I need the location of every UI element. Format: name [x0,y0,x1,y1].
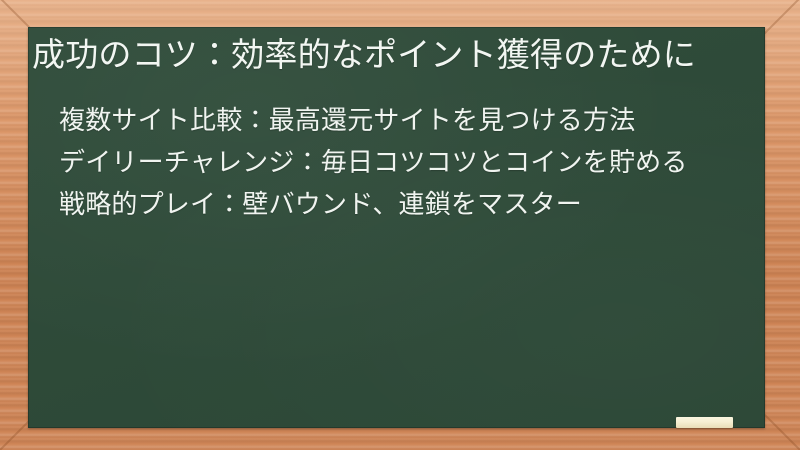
board-content: 成功のコツ：効率的なポイント獲得のために 複数サイト比較：最高還元サイトを見つけ… [28,27,765,225]
chalkboard-slide: 成功のコツ：効率的なポイント獲得のために 複数サイト比較：最高還元サイトを見つけ… [0,0,800,450]
list-item: 複数サイト比較：最高還元サイトを見つける方法 [59,99,731,141]
list-item: 戦略的プレイ：壁バウンド、連鎖をマスター [59,183,731,225]
list-item: デイリーチャレンジ：毎日コツコツとコインを貯める [59,141,731,183]
frame-miter-bottom-right [764,414,800,450]
chalk-stick-icon [676,417,733,428]
slide-title: 成功のコツ：効率的なポイント獲得のために [30,31,730,77]
bullet-list: 複数サイト比較：最高還元サイトを見つける方法 デイリーチャレンジ：毎日コツコツと… [30,99,751,225]
frame-miter-top-right [762,0,800,36]
chalkboard-surface: 成功のコツ：効率的なポイント獲得のために 複数サイト比較：最高還元サイトを見つけ… [28,27,765,428]
